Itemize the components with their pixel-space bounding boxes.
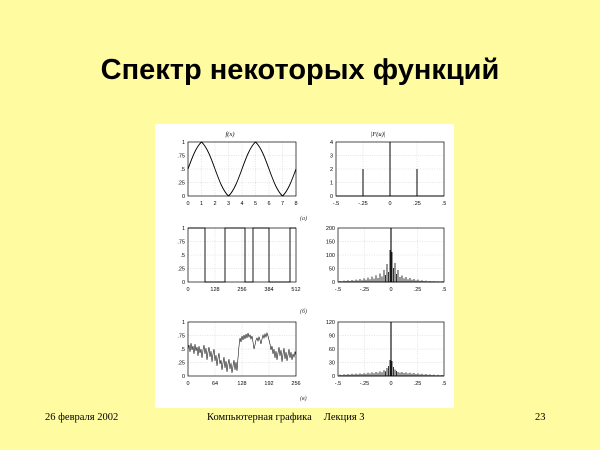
- svg-text:100: 100: [326, 253, 335, 259]
- svg-text:.25: .25: [414, 381, 422, 387]
- svg-text:.25: .25: [177, 361, 185, 367]
- svg-text:.75: .75: [177, 240, 185, 246]
- svg-text:.25: .25: [414, 287, 422, 293]
- svg-text:|F(u)|: |F(u)|: [370, 131, 385, 138]
- svg-text:256: 256: [237, 287, 246, 293]
- svg-text:.25: .25: [413, 201, 421, 207]
- svg-text:0: 0: [186, 381, 189, 387]
- svg-text:0: 0: [182, 194, 185, 200]
- svg-text:.5: .5: [442, 381, 447, 387]
- svg-text:6: 6: [267, 201, 270, 207]
- svg-text:2: 2: [330, 167, 333, 173]
- svg-text:150: 150: [326, 240, 335, 246]
- slide-footer: 26 февраля 2002 Компьютерная графикаЛекц…: [0, 412, 600, 432]
- svg-text:0: 0: [389, 287, 392, 293]
- svg-text:128: 128: [237, 381, 246, 387]
- svg-text:.5: .5: [180, 253, 185, 259]
- svg-text:.25: .25: [177, 267, 185, 273]
- svg-text:200: 200: [326, 226, 335, 232]
- svg-text:0: 0: [389, 381, 392, 387]
- svg-text:60: 60: [329, 347, 335, 353]
- chart-square-signal: 1 .75 .5 .25 0: [159, 222, 301, 304]
- svg-text:256: 256: [291, 381, 300, 387]
- svg-text:1: 1: [182, 226, 185, 232]
- svg-text:1: 1: [182, 140, 185, 146]
- footer-page-number: 23: [535, 412, 546, 423]
- svg-text:0: 0: [182, 280, 185, 286]
- svg-text:120: 120: [326, 320, 335, 326]
- svg-text:512: 512: [291, 287, 300, 293]
- svg-text:-.5: -.5: [333, 201, 339, 207]
- svg-text:f(x): f(x): [225, 131, 234, 138]
- svg-text:.75: .75: [177, 334, 185, 340]
- svg-text:-.5: -.5: [335, 287, 341, 293]
- svg-text:0: 0: [186, 201, 189, 207]
- svg-text:3: 3: [330, 154, 333, 160]
- footer-course: Компьютерная графикаЛекция 3: [207, 412, 365, 423]
- chart-sine-spectrum: |F(u)| 4 3 2 1 0: [307, 128, 449, 216]
- footer-course-name: Компьютерная графика: [207, 412, 312, 423]
- svg-text:1: 1: [182, 320, 185, 326]
- svg-text:64: 64: [212, 381, 218, 387]
- row-label-b: (б): [300, 309, 307, 315]
- svg-text:0: 0: [330, 194, 333, 200]
- svg-text:5: 5: [254, 201, 257, 207]
- plot-grid: f(x) 1 .75 .5 .25 0: [155, 124, 454, 408]
- slide: Спектр некоторых функций f(x) 1 .75 .5 .…: [0, 0, 600, 450]
- svg-text:30: 30: [329, 361, 335, 367]
- svg-text:90: 90: [329, 334, 335, 340]
- svg-text:1: 1: [200, 201, 203, 207]
- svg-text:.5: .5: [442, 287, 447, 293]
- svg-text:128: 128: [210, 287, 219, 293]
- svg-text:4: 4: [330, 140, 333, 146]
- row-label-v: (в): [300, 396, 307, 402]
- svg-text:-.25: -.25: [358, 201, 367, 207]
- page-title: Спектр некоторых функций: [0, 54, 600, 87]
- svg-text:-.25: -.25: [360, 381, 369, 387]
- svg-text:0: 0: [182, 374, 185, 380]
- svg-text:7: 7: [281, 201, 284, 207]
- svg-text:1: 1: [330, 181, 333, 187]
- svg-text:0: 0: [186, 287, 189, 293]
- chart-sine-signal: f(x) 1 .75 .5 .25 0: [159, 128, 301, 216]
- svg-text:.5: .5: [442, 201, 447, 207]
- svg-text:192: 192: [264, 381, 273, 387]
- chart-noise-spectrum: 120 90 60 30 0: [307, 316, 449, 398]
- svg-text:0: 0: [332, 280, 335, 286]
- svg-text:384: 384: [264, 287, 273, 293]
- svg-text:3: 3: [227, 201, 230, 207]
- row-label-a: (а): [300, 216, 307, 222]
- svg-text:.75: .75: [177, 154, 185, 160]
- svg-text:-.5: -.5: [335, 381, 341, 387]
- svg-text:-.25: -.25: [360, 287, 369, 293]
- svg-text:.25: .25: [177, 181, 185, 187]
- chart-noise-signal: 1 .75 .5 .25 0: [159, 316, 301, 398]
- figure-panel: f(x) 1 .75 .5 .25 0: [155, 124, 454, 408]
- svg-text:.5: .5: [180, 167, 185, 173]
- svg-text:.5: .5: [180, 347, 185, 353]
- svg-text:8: 8: [294, 201, 297, 207]
- footer-date: 26 февраля 2002: [45, 412, 118, 423]
- svg-text:4: 4: [240, 201, 243, 207]
- svg-text:0: 0: [388, 201, 391, 207]
- chart-square-spectrum: 200 150 100 50 0: [307, 222, 449, 304]
- footer-lecture: Лекция 3: [324, 412, 365, 423]
- svg-text:0: 0: [332, 374, 335, 380]
- svg-text:50: 50: [329, 267, 335, 273]
- svg-text:2: 2: [213, 201, 216, 207]
